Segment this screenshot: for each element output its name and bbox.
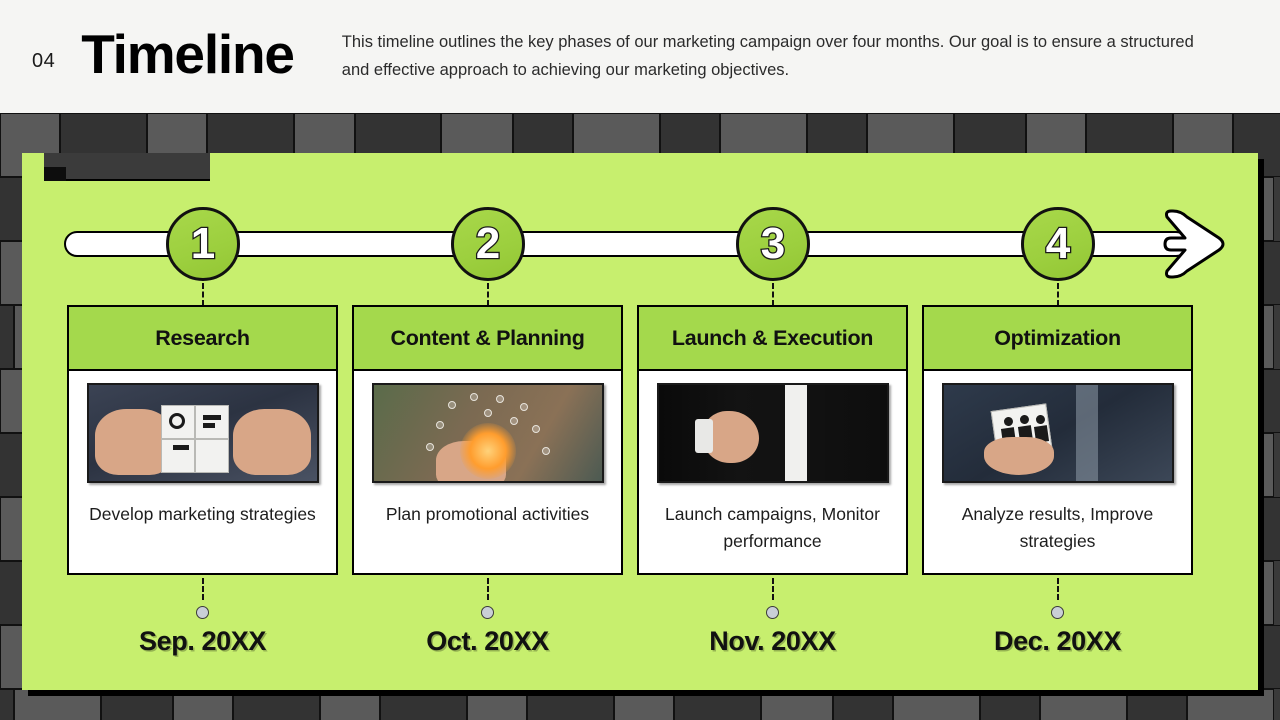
brick-tile [1259,241,1280,305]
brick-tile [1187,689,1274,720]
timeline-card-1[interactable]: Research Develop marketing strategies [67,305,338,575]
brick-tile [1260,625,1280,689]
card-image-4 [942,383,1174,483]
slide-header: 04 Timeline This timeline outlines the k… [0,0,1280,113]
step-circle-2[interactable]: 2 [451,207,525,281]
brick-tile [320,689,380,720]
card-body-3: Launch campaigns, Monitor performance [639,371,906,573]
page-description: This timeline outlines the key phases of… [342,29,1204,83]
card-image-1 [87,383,319,483]
step-number-2: 2 [476,222,500,266]
card-header-2: Content & Planning [354,307,621,371]
step-connector-bottom-4 [1057,578,1059,600]
brick-tile [380,689,467,720]
card-body-4: Analyze results, Improve strategies [924,371,1191,573]
card-title-4: Optimization [994,326,1121,351]
brick-row [0,689,1274,720]
panel-notch-decoration [44,153,210,181]
brick-tile [761,689,833,720]
card-caption-1: Develop marketing strategies [79,501,326,528]
brick-tile [0,689,14,720]
brick-tile [614,689,674,720]
page-title: Timeline [81,27,294,86]
brick-tile [0,305,14,369]
date-label-3: Nov. 20XX [637,626,908,657]
section-number: 04 [32,40,55,73]
step-circle-3[interactable]: 3 [736,207,810,281]
card-caption-2: Plan promotional activities [376,501,599,528]
right-arrow-icon [1163,205,1235,283]
card-title-2: Content & Planning [390,326,584,351]
brick-tile [980,689,1040,720]
panel-notch-shadow [44,167,66,181]
timeline-card-2[interactable]: Content & Planning Plan promotional acti… [352,305,623,575]
date-dot-2 [481,606,494,619]
date-label-1: Sep. 20XX [67,626,338,657]
card-image-2 [372,383,604,483]
step-connector-bottom-1 [202,578,204,600]
brick-tile [1127,689,1187,720]
step-number-4: 4 [1046,222,1070,266]
timeline-card-4[interactable]: Optimization Analyze results, Improve st… [922,305,1193,575]
date-dot-4 [1051,606,1064,619]
panel-notch-corner [22,153,44,167]
date-label-2: Oct. 20XX [352,626,623,657]
card-title-1: Research [155,326,249,351]
card-body-1: Develop marketing strategies [69,371,336,573]
brick-tile [14,689,101,720]
card-image-3 [657,383,889,483]
date-dot-1 [196,606,209,619]
brick-tile [527,689,614,720]
step-number-1: 1 [191,222,215,266]
brick-tile [101,689,173,720]
brick-tile [833,689,893,720]
step-connector-top-2 [487,283,489,306]
brick-tile [467,689,527,720]
brick-tile [674,689,761,720]
step-connector-bottom-3 [772,578,774,600]
date-dot-3 [766,606,779,619]
step-connector-top-1 [202,283,204,306]
step-connector-top-4 [1057,283,1059,306]
card-caption-4: Analyze results, Improve strategies [924,501,1191,556]
card-header-3: Launch & Execution [639,307,906,371]
card-body-2: Plan promotional activities [354,371,621,573]
card-header-1: Research [69,307,336,371]
step-circle-4[interactable]: 4 [1021,207,1095,281]
step-connector-top-3 [772,283,774,306]
card-header-4: Optimization [924,307,1191,371]
step-circle-1[interactable]: 1 [166,207,240,281]
timeline-card-3[interactable]: Launch & Execution Launch campaigns, Mon… [637,305,908,575]
brick-tile [893,689,980,720]
brick-tile [1040,689,1127,720]
card-caption-3: Launch campaigns, Monitor performance [639,501,906,556]
date-label-4: Dec. 20XX [922,626,1193,657]
brick-tile [173,689,233,720]
step-number-3: 3 [761,222,785,266]
step-connector-bottom-2 [487,578,489,600]
card-title-3: Launch & Execution [672,326,873,351]
brick-tile [233,689,320,720]
